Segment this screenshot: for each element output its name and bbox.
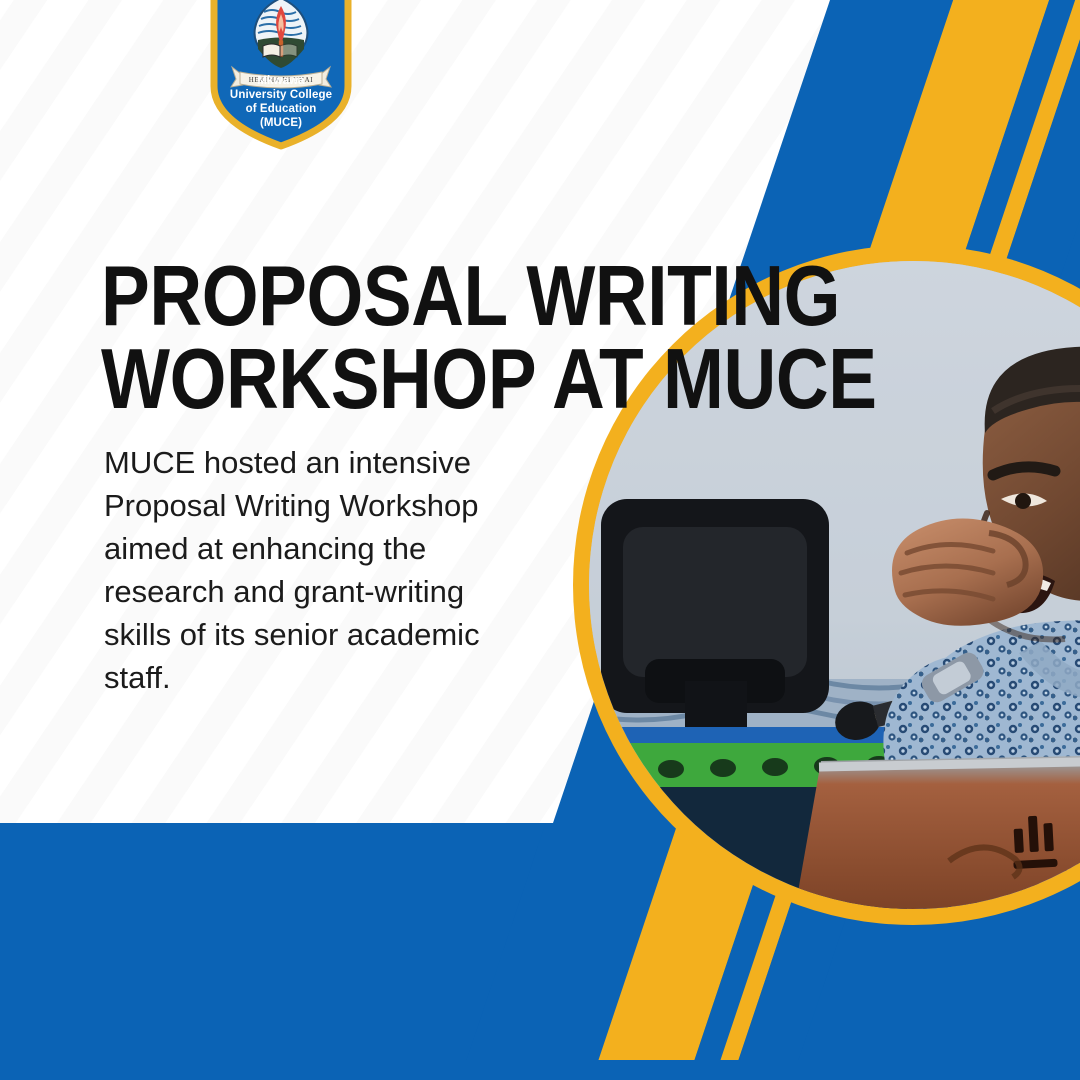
body-paragraph: MUCE hosted an intensive Proposal Writin…	[104, 441, 519, 699]
headline-line-1: Proposal Writing	[101, 255, 548, 338]
page-title: Proposal Writing Workshop at MUCE	[101, 255, 548, 422]
social-media-poster: HEKIMA NI UHAI Mkwawa University College…	[0, 0, 1080, 1080]
headline-line-2: Workshop at MUCE	[101, 338, 548, 421]
crest-shield-icon: HEKIMA NI UHAI	[206, 0, 356, 150]
svg-text:HEKIMA NI UHAI: HEKIMA NI UHAI	[249, 76, 313, 84]
muce-crest-logo[interactable]: HEKIMA NI UHAI Mkwawa University College…	[206, 0, 356, 150]
